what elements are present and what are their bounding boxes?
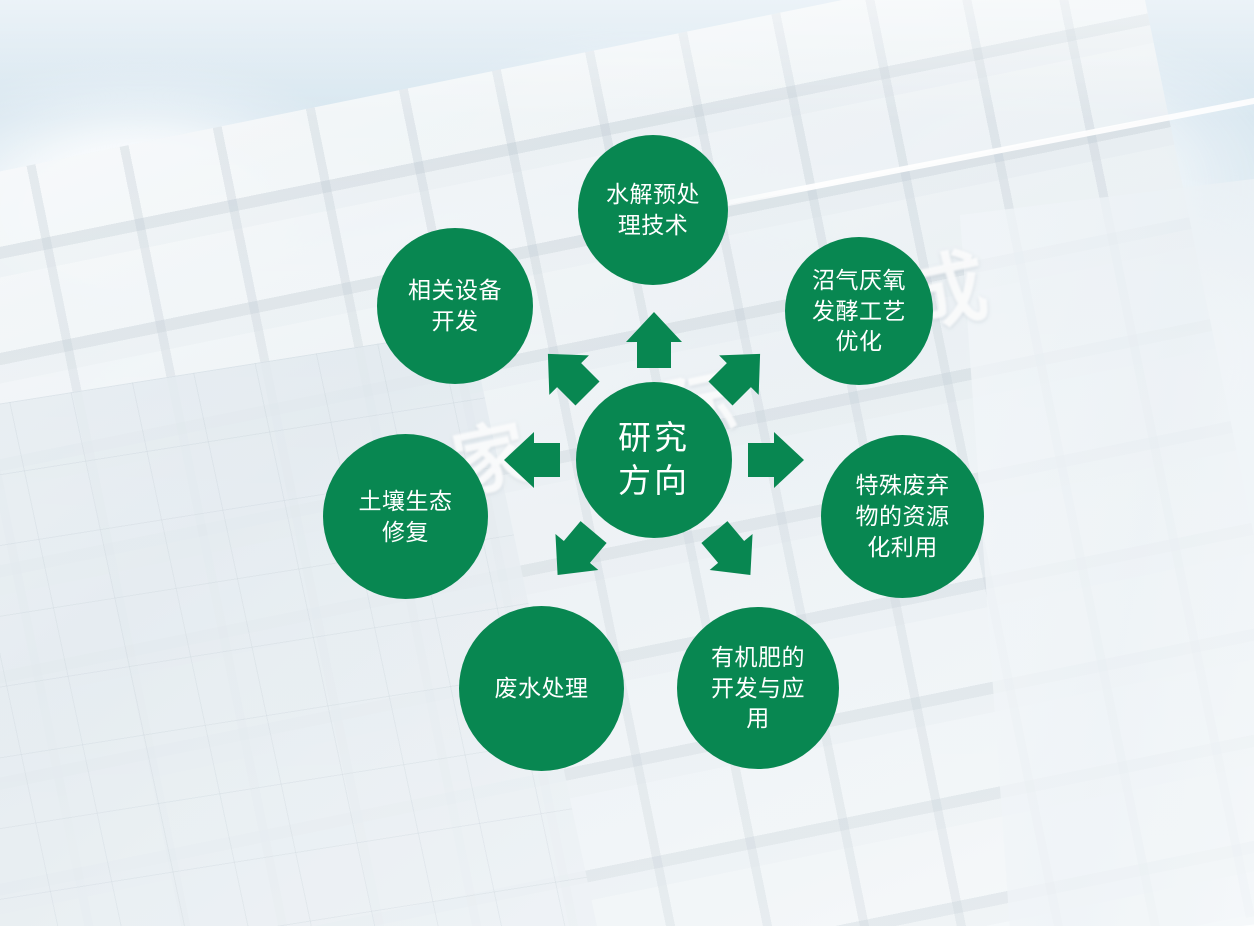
research-directions-diagram: 研究 方向 水解预处 理技术 沼气厌氧 发酵工艺 优化 特殊废弃 物的资源 化利… [0, 0, 1254, 926]
spoke-node-label: 相关设备 开发 [408, 275, 502, 337]
arrow-upper-left [528, 334, 607, 413]
spoke-node-equipment[interactable]: 相关设备 开发 [377, 228, 533, 384]
spoke-node-label: 沼气厌氧 发酵工艺 优化 [812, 265, 906, 357]
spoke-node-label: 土壤生态 修复 [359, 486, 453, 548]
infographic-canvas: 家 际 成 研究 方向 水解预处 理技术 沼气厌氧 发酵工艺 优化 特殊废弃 物… [0, 0, 1254, 926]
spoke-node-label: 废水处理 [495, 673, 589, 704]
arrow-up [626, 312, 682, 368]
arrow-upper-right [701, 334, 780, 413]
spoke-node-label: 特殊废弃 物的资源 化利用 [856, 470, 950, 562]
arrow-lower-right [693, 514, 772, 593]
arrow-right [748, 432, 804, 488]
center-node-label: 研究 方向 [618, 417, 690, 503]
center-node-research-directions[interactable]: 研究 方向 [576, 382, 732, 538]
spoke-node-soil-remediation[interactable]: 土壤生态 修复 [323, 434, 488, 599]
spoke-node-hydrolysis[interactable]: 水解预处 理技术 [578, 135, 728, 285]
spoke-node-special-waste[interactable]: 特殊废弃 物的资源 化利用 [821, 435, 984, 598]
spoke-node-label: 水解预处 理技术 [606, 179, 700, 241]
spoke-node-wastewater[interactable]: 废水处理 [459, 606, 624, 771]
spoke-node-biogas[interactable]: 沼气厌氧 发酵工艺 优化 [785, 237, 933, 385]
spoke-node-organic-fertilizer[interactable]: 有机肥的 开发与应 用 [677, 607, 839, 769]
arrow-left [504, 432, 560, 488]
spoke-node-label: 有机肥的 开发与应 用 [711, 642, 805, 734]
arrow-lower-left [536, 514, 615, 593]
